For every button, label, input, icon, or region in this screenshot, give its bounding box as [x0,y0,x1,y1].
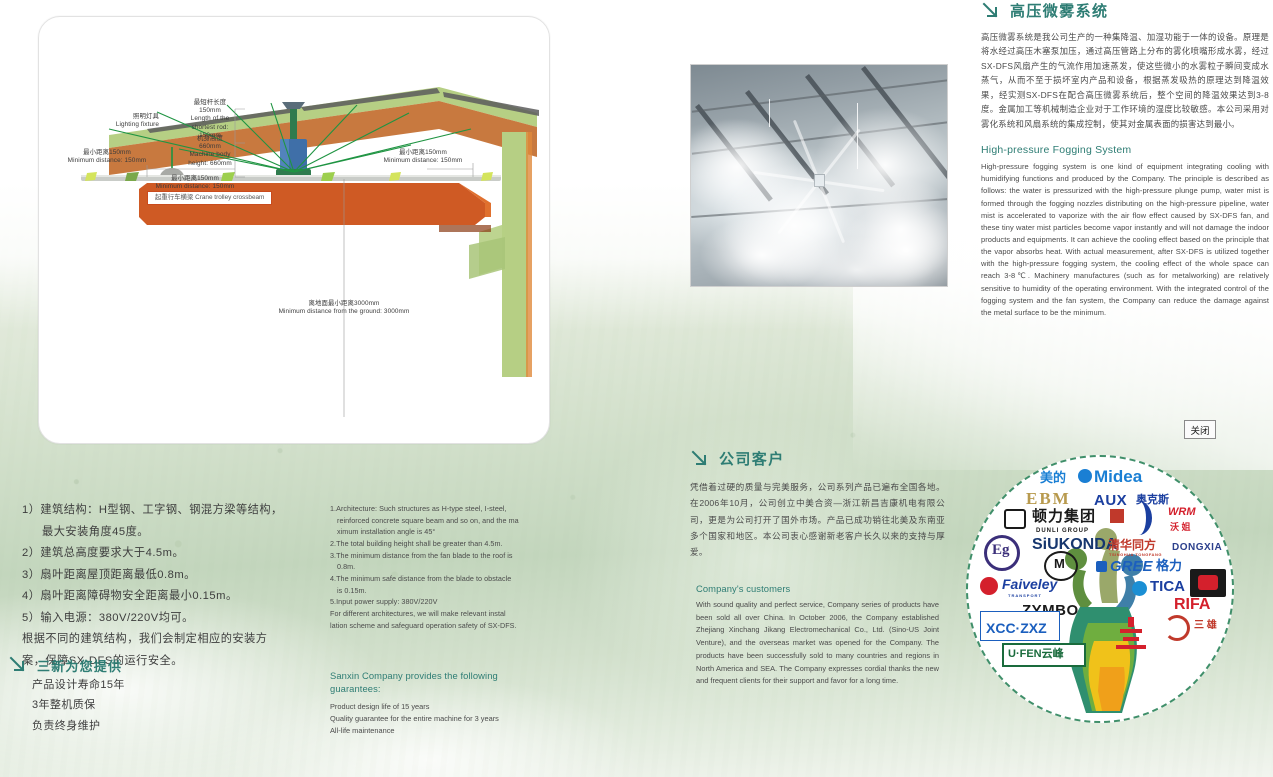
arrow-down-right-icon [690,449,710,469]
logo-faiveley-mark [980,577,998,595]
spec-en-line-6: 0.8m. [330,561,565,573]
label-machine-body-height: 机身高度 660mm Machine body height: 660mm [178,135,242,168]
logo-red-building-icon [1116,617,1146,649]
spec-list-cn: 1）建筑结构：H型钢、工字钢、钢混方梁等结构， 最大安装角度45度。 2）建筑总… [22,500,327,672]
fogging-system-photo [690,64,948,287]
spec-cn-item-5: 5）输入电源：380V/220V均可。 [22,608,327,630]
customers-heading-cn: 公司客户 [719,448,785,469]
spec-en-line-1: 1.Architecture: Such structures as H-typ… [330,503,565,515]
logo-midea-mark [1078,469,1092,483]
promise-line-1: 产品设计寿命15年 [32,675,298,695]
logo-gree-en: GREE [1110,559,1153,574]
guarantee-line-2: Quality guarantee for the entire machine… [330,713,565,725]
fogging-body-cn: 高压微雾系统是我公司生产的一种集降温、加湿功能于一体的设备。原理是将水经过高压木… [981,30,1269,131]
logo-gree-cn: 格力 [1156,559,1182,572]
spec-en-line-5: 3.The minimum distance from the fan blad… [330,550,565,562]
spec-cn-item-1b: 最大安装角度45度。 [22,522,327,544]
logo-mg: M [1054,557,1065,570]
promise-heading-cn: 三新为您提供 [37,656,122,675]
spec-en-line-7: 4.The minimum safe distance from the bla… [330,573,565,585]
logo-sanxiong-mark [1164,615,1190,641]
promise-line-2: 3年整机质保 [32,695,298,715]
client-logo-collage: 美的 Midea EBM AUX 奥克斯 WRM 沃 姐 顿力集团 DUNLI … [966,455,1234,723]
logo-tsinghua-mark [1110,509,1124,523]
spec-en-line-2: reinforced concrete square beam and so o… [330,515,565,527]
fogging-system-section: 高压微雾系统 高压微雾系统是我公司生产的一种集降温、加湿功能于一体的设备。原理是… [981,0,1269,319]
logo-ufen: U·FEN云峰 [1008,649,1064,660]
customers-section: 公司客户 凭借着过硬的质量与完美服务，公司系列产品已遍布全国各地。在2006年1… [690,448,945,561]
guarantee-section: Sanxin Company provides the following gu… [330,670,565,737]
arrow-down-right-icon [8,655,28,675]
label-min-distance-right: 最小距离150mm Minimum distance: 150mm [375,149,471,165]
label-lighting-fixture: 照明灯具 Lighting fixture [85,113,159,129]
spec-cn-item-4: 4）扇叶距离障碍物安全距离最小0.15m。 [22,586,327,608]
spec-list-en: 1.Architecture: Such structures as H-typ… [330,503,565,631]
logo-tica: TICA [1150,579,1185,594]
customers-body-en: With sound quality and perfect service, … [696,599,939,688]
fan-drop-rod [290,106,297,144]
logo-tsinghua-cn: 清华同方 [1108,539,1156,551]
logo-tsinghua-swoosh [1126,501,1152,535]
spec-en-line-4: 2.The total building height shall be gre… [330,538,565,550]
guarantee-heading-a: Sanxin Company provides the following [330,670,565,683]
customers-heading: 公司客户 [690,448,945,469]
label-min-distance-center: 最小距离150mm Minimum distance: 150mm [144,175,246,191]
spec-cn-item-1a: 1）建筑结构：H型钢、工字钢、钢混方梁等结构， [22,500,327,522]
close-button-label: 关闭 [1190,423,1209,437]
logo-faiveley-sub: TRANSPORT [1008,594,1042,598]
customers-body-cn: 凭借着过硬的质量与完美服务，公司系列产品已遍布全国各地。在2006年10月，公司… [690,479,945,561]
spec-en-line-8: is 0.15m. [330,585,565,597]
logo-midea-cn: 美的 [1040,471,1066,484]
guarantee-line-1: Product design life of 15 years [330,701,565,713]
installation-diagram-card: 照明灯具 Lighting fixture 最短杆长度 150mm Length… [38,16,550,444]
promise-line-3: 负责终身维护 [32,716,298,736]
logo-xcc-zxz: XCC·ZXZ [986,621,1047,635]
logo-rifa: RIFA [1174,597,1210,613]
fogging-heading-cn: 高压微雾系统 [1010,0,1108,21]
spec-en-line-10: For different architectures, we will mak… [330,608,565,620]
logo-dunli-cn: 顿力集团 [1032,509,1096,524]
arrow-down-right-icon [981,1,1001,21]
spec-cn-item-2: 2）建筑总高度要求大于4.5m。 [22,543,327,565]
close-button[interactable]: 关闭 [1184,420,1216,439]
installation-diagram-svg [39,17,550,444]
logo-gree-mark [1096,561,1107,572]
spec-cn-note-a: 根据不同的建筑结构，我们会制定相应的安装方 [22,629,327,651]
logo-sanxiong-cn: 三 雄 [1194,621,1217,631]
guarantee-heading-b: guarantees: [330,683,565,696]
logo-midea-en: Midea [1094,468,1142,485]
label-crane-trolley-crossbeam: 起重行车横梁 Crane trolley crossbeam [147,191,272,205]
spec-en-line-11: lation scheme and safeguard operation sa… [330,620,565,632]
logo-dunli-en: DUNLI GROUP [1036,528,1089,534]
logo-ebm: EBM [1026,490,1071,507]
logo-aux-en: AUX [1094,493,1127,508]
fogging-heading: 高压微雾系统 [981,0,1269,21]
spec-en-line-3: ximum installation angle is 45° [330,526,565,538]
logo-dongxia: DONGXIA [1172,543,1222,553]
logo-tsinghua-pinyin: TSINGHUA TONGFANG [1109,553,1162,557]
fogging-heading-en: High-pressure Fogging System [981,144,1269,156]
logo-dark-badge-mark [1198,575,1218,590]
logo-tica-mark [1132,581,1147,596]
customers-heading-en: Company's customers [696,583,939,594]
logo-dunli-mark [1004,509,1026,529]
label-shortest-rod: 最短杆长度 150mm Length of the shortest rod: … [178,99,242,140]
logo-faiveley: Faiveley [1002,577,1057,591]
logo-woer-en: WRM [1168,507,1196,518]
promise-heading: 三新为您提供 [8,655,298,675]
guarantee-line-3: All-life maintenance [330,725,565,737]
customers-section-en: Company's customers With sound quality a… [696,583,939,688]
spec-en-line-9: 5.Input power supply: 380V/220V [330,596,565,608]
fogging-body-en: High-pressure fogging system is one kind… [981,161,1269,319]
promise-section: 三新为您提供 产品设计寿命15年 3年整机质保 负责终身维护 [8,655,298,736]
spec-cn-item-3: 3）扇叶距离屋顶距离最低0.8m。 [22,565,327,587]
label-min-distance-left: 最小距离150mm Minimum distance: 150mm [59,149,155,165]
label-ground-distance: 离地面最小距离3000mm Minimum distance from the … [202,300,486,316]
logo-siukonda: SiUKONDA [1032,537,1117,553]
logo-woer-cn: 沃 姐 [1170,523,1191,532]
logo-eg: Eg [992,543,1010,558]
